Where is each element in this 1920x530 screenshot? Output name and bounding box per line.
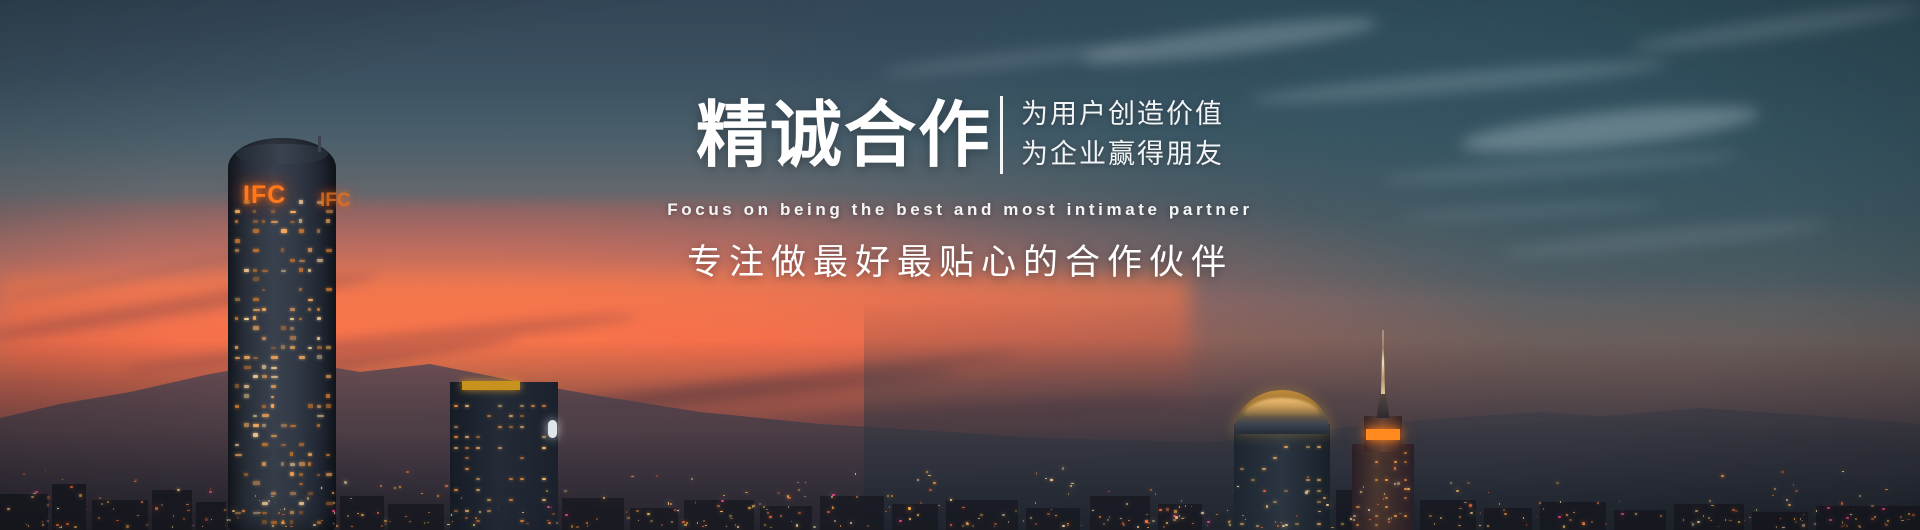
slogan-line-2: 为企业赢得朋友 [1021,140,1224,170]
tagline-chinese: 专注做最好最贴心的合作伙伴 [0,234,1920,285]
banner-content: 精诚合作 为用户创造价值 为企业赢得朋友 Focus on being the … [0,0,1920,530]
page-title: 精诚合作 [696,96,992,174]
headline-row: 精诚合作 为用户创造价值 为企业赢得朋友 [0,96,1920,174]
hero-banner: IFC IFC 精诚合作 为用户创造价值 为企业赢得朋友 [0,0,1920,530]
slogan-column: 为用户创造价值 为企业赢得朋友 [1021,100,1224,170]
slogan-line-1: 为用户创造价值 [1021,100,1224,130]
title-divider [1000,96,1003,174]
tagline-english: Focus on being the best and most intimat… [0,200,1920,220]
headline-inner: 精诚合作 为用户创造价值 为企业赢得朋友 [696,96,1224,174]
